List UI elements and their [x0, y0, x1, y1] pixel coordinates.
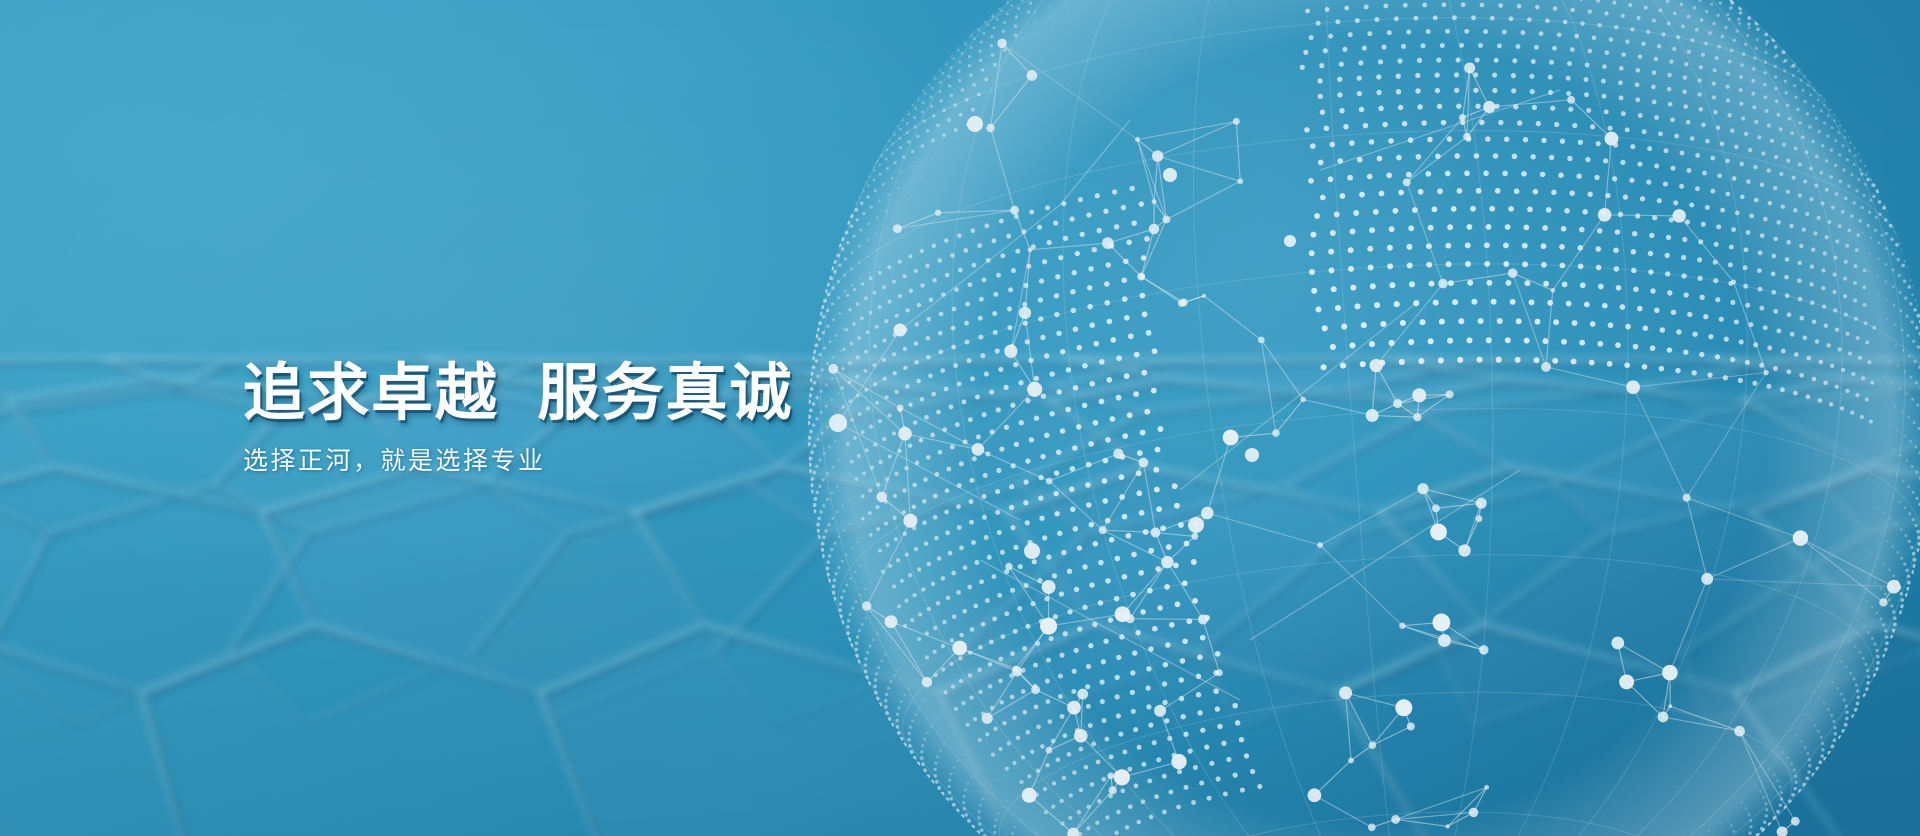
page-title: 追求卓越 服务真诚 — [243, 362, 793, 425]
copy-block: 追求卓越 服务真诚 选择正河，就是选择专业 — [243, 362, 793, 478]
banner-stage: 追求卓越 服务真诚 选择正河，就是选择专业 — [0, 0, 1920, 836]
page-subtitle: 选择正河，就是选择专业 — [243, 425, 793, 478]
